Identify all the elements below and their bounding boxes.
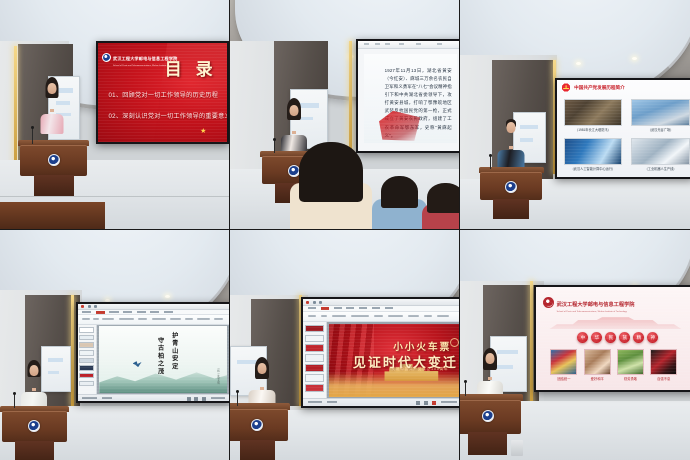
podium bbox=[0, 406, 69, 460]
view-sorter-icon[interactable] bbox=[194, 397, 198, 401]
slide-red-toc: 武汉工程大学邮电与信息工程学院 School of Posts and Tele… bbox=[98, 43, 227, 142]
slide-thumbnail[interactable] bbox=[305, 325, 324, 333]
save-icon[interactable] bbox=[313, 301, 316, 304]
zoom-slider[interactable] bbox=[211, 397, 225, 399]
photo-caption: （武汉光谷广场） bbox=[631, 127, 689, 132]
panel-top-right[interactable]: 中国共产党发展历程简介 （1981年长江大堤防汛） （武汉光谷广场） （武汉人工… bbox=[460, 0, 690, 229]
podium-front bbox=[230, 409, 288, 441]
face bbox=[47, 83, 56, 94]
slide-civic-values: 武汉工程大学邮电与信息工程学院 School of Posts and Tele… bbox=[536, 287, 690, 389]
bird-icon bbox=[133, 361, 142, 367]
photo-thumbnail bbox=[617, 349, 644, 376]
slide-thumbnail[interactable] bbox=[305, 344, 324, 352]
ribbon-tab[interactable] bbox=[346, 307, 354, 309]
slide-thumbnail[interactable] bbox=[305, 354, 324, 362]
value-photo-cell: 团结统一 bbox=[550, 349, 577, 376]
school-emblem-icon bbox=[482, 410, 494, 422]
podium-base bbox=[493, 199, 529, 218]
photo-thumbnail bbox=[650, 349, 677, 376]
neck bbox=[509, 146, 513, 149]
toolbar-tick bbox=[375, 43, 380, 45]
ribbon-tab[interactable] bbox=[123, 311, 132, 313]
slide-title-line-1: 小小火车票 bbox=[393, 339, 451, 353]
neck bbox=[260, 387, 264, 390]
value-chip-row: 中 华 民 族 精 神 bbox=[577, 332, 658, 343]
ribbon-control[interactable] bbox=[408, 315, 419, 317]
ribbon-control[interactable] bbox=[119, 318, 134, 320]
audience-head bbox=[427, 183, 459, 213]
grid-cell: （1981年长江大堤防汛） bbox=[564, 99, 622, 134]
panel-top-left[interactable]: 武汉工程大学邮电与信息工程学院 School of Posts and Tele… bbox=[0, 0, 229, 229]
led-screen[interactable]: 小小火车票 见证时代大变迁 庆祝中国共产党成立100周年 bbox=[301, 297, 459, 408]
neck bbox=[488, 377, 492, 380]
ribbon-control[interactable] bbox=[82, 318, 90, 320]
ribbon-control[interactable] bbox=[388, 315, 402, 317]
ribbon-tab[interactable] bbox=[385, 307, 393, 309]
grid-cell: （武汉光谷广场） bbox=[631, 99, 689, 134]
ppt-slide-thumbnails[interactable] bbox=[78, 325, 98, 394]
photo-thumbnail bbox=[564, 138, 622, 165]
slide-thumbnail[interactable] bbox=[79, 358, 94, 364]
undo-icon[interactable] bbox=[319, 301, 322, 304]
ribbon-control[interactable] bbox=[93, 318, 99, 320]
podium-front bbox=[2, 411, 67, 442]
save-icon[interactable] bbox=[88, 305, 91, 308]
slide-document: 1927年11月13日，湖北省黄安（今红安）、麻城三万余名农民自卫军和义勇军在"… bbox=[358, 41, 459, 152]
ribbon-control[interactable] bbox=[170, 318, 181, 320]
ribbon-tab[interactable] bbox=[82, 311, 91, 313]
view-slideshow-icon[interactable] bbox=[432, 401, 436, 405]
neck bbox=[292, 131, 296, 134]
slide-thumbnail[interactable] bbox=[305, 384, 324, 392]
party-emblem-icon bbox=[561, 83, 571, 92]
podium-base bbox=[240, 440, 276, 460]
photo-thumbnail bbox=[584, 349, 611, 376]
face bbox=[258, 363, 267, 374]
slide-body: 1927年11月13日，湖北省黄安（今红安）、麻城三万余名农民自卫军和义勇军在"… bbox=[364, 54, 457, 142]
slide-thumbnail[interactable] bbox=[79, 342, 94, 348]
ribbon-control[interactable] bbox=[374, 315, 384, 317]
photo-thumbnail bbox=[631, 99, 689, 126]
ribbon-control[interactable] bbox=[197, 318, 209, 320]
ppt-ribbon[interactable] bbox=[303, 312, 459, 323]
grid-cell: （工业机器人生产线） bbox=[631, 138, 689, 173]
slide-toc-item-1: 01、回顾党对一切工作领导的历史历程 bbox=[108, 90, 218, 102]
toolbar-tick bbox=[416, 43, 421, 45]
ribbon-control[interactable] bbox=[308, 315, 316, 317]
toolbar-tick bbox=[437, 43, 442, 45]
led-screen[interactable]: 中国共产党发展历程简介 （1981年长江大堤防汛） （武汉光谷广场） （武汉人工… bbox=[555, 78, 690, 179]
wall-light-strip bbox=[14, 46, 17, 170]
led-screen[interactable]: 武汉工程大学邮电与信息工程学院 School of Posts and Tele… bbox=[96, 41, 229, 144]
ribbon-tab[interactable] bbox=[137, 311, 146, 313]
value-chip: 神 bbox=[647, 332, 658, 343]
slide-title: 中国共产党发展历程简介 bbox=[574, 85, 625, 91]
face bbox=[486, 353, 495, 364]
slide-toc-item-2: 02、深刻认识党对一切工作领导的重要意义 bbox=[108, 111, 229, 123]
school-emblem-icon bbox=[505, 181, 517, 193]
slide-thumbnail[interactable] bbox=[305, 335, 324, 343]
slide-thumbnail[interactable] bbox=[79, 350, 94, 356]
slide-photo-grid: 中国共产党发展历程简介 （1981年长江大堤防汛） （武汉光谷广场） （武汉人工… bbox=[557, 80, 690, 177]
slide-org-name-cn: 武汉工程大学邮电与信息工程学院 bbox=[557, 302, 635, 308]
powerpoint-window[interactable]: 护青山安定 守古柏之茂 一枝一叶总关情 bbox=[78, 304, 229, 402]
microphone-icon bbox=[14, 394, 15, 408]
downlight-icon bbox=[165, 295, 170, 298]
room-scene: 中国共产党发展历程简介 （1981年长江大堤防汛） （武汉光谷广场） （武汉人工… bbox=[460, 0, 690, 229]
slide-thumbnail[interactable] bbox=[79, 365, 94, 371]
ribbon-control[interactable] bbox=[437, 315, 450, 317]
view-normal-icon[interactable] bbox=[187, 397, 191, 401]
school-emblem-icon bbox=[28, 420, 40, 432]
photo-caption: （1981年长江大堤防汛） bbox=[564, 127, 622, 132]
ribbon-tab[interactable] bbox=[372, 307, 380, 309]
ppt-ribbon[interactable] bbox=[78, 315, 229, 325]
slide-red-title: 小小火车票 见证时代大变迁 庆祝中国共产党成立100周年 bbox=[329, 324, 459, 397]
school-seal-icon bbox=[543, 297, 554, 308]
status-text bbox=[308, 401, 322, 403]
ribbon-control[interactable] bbox=[152, 318, 166, 320]
torso bbox=[40, 114, 63, 134]
ppt-title-bar[interactable] bbox=[303, 299, 459, 306]
slide-seal-note: 一枝一叶总关情 bbox=[216, 367, 220, 384]
school-seal-icon bbox=[102, 53, 111, 62]
wall-light-strip bbox=[71, 295, 74, 406]
app-icon bbox=[306, 301, 309, 304]
toolbar-tick bbox=[399, 43, 404, 45]
ribbon-control[interactable] bbox=[102, 318, 114, 320]
ribbon-control[interactable] bbox=[321, 315, 327, 317]
ribbon-tab-active[interactable] bbox=[321, 307, 329, 310]
face bbox=[507, 122, 516, 133]
value-chip: 民 bbox=[605, 332, 616, 343]
ppt-slide-canvas[interactable]: 小小火车票 见证时代大变迁 庆祝中国共产党成立100周年 bbox=[327, 322, 459, 398]
audience-head bbox=[381, 176, 418, 208]
ppt-slide-thumbnails[interactable] bbox=[303, 322, 327, 398]
podium-front bbox=[480, 172, 541, 200]
wall-light-strip bbox=[530, 281, 533, 406]
school-emblem-icon bbox=[251, 419, 263, 431]
ppt-status-bar[interactable] bbox=[78, 394, 229, 401]
microphone-icon bbox=[274, 140, 275, 154]
ribbon-control[interactable] bbox=[138, 318, 147, 320]
panel-bottom-right[interactable]: 武汉工程大学邮电与信息工程学院 School of Posts and Tele… bbox=[460, 230, 690, 460]
slide-org-name-en: School of Posts and Telecommunications, … bbox=[557, 311, 635, 313]
panel-bottom-middle[interactable]: 小小火车票 见证时代大变迁 庆祝中国共产党成立100周年 bbox=[230, 230, 459, 460]
ribbon-tab-active[interactable] bbox=[96, 311, 105, 314]
neck bbox=[50, 109, 54, 112]
value-chip: 中 bbox=[577, 332, 588, 343]
slide-title: 目 录 bbox=[165, 55, 217, 80]
ribbon-tab[interactable] bbox=[359, 307, 367, 309]
photo-thumbnail bbox=[631, 138, 689, 165]
photo-caption: 团结统一 bbox=[550, 376, 577, 381]
calligraphy-line-2: 守古柏之茂 bbox=[156, 337, 165, 376]
star-icon: ★ bbox=[200, 127, 206, 135]
slide-subtitle: 庆祝中国共产党成立100周年 bbox=[392, 366, 449, 371]
slide-toolbar-strip bbox=[358, 41, 459, 49]
slide-thumbnail[interactable] bbox=[305, 374, 324, 382]
grid-cell: （武汉人工智能计算中心运行） bbox=[564, 138, 622, 173]
ribbon-tab[interactable] bbox=[150, 311, 159, 313]
microphone-icon bbox=[32, 128, 33, 144]
microphone-icon bbox=[237, 392, 238, 406]
photo-caption: 勤劳勇敢 bbox=[617, 376, 644, 381]
photo-caption: 爱好和平 bbox=[584, 376, 611, 381]
ribbon-control[interactable] bbox=[351, 315, 369, 317]
ribbon-tab[interactable] bbox=[164, 311, 173, 313]
view-sorter-icon[interactable] bbox=[424, 401, 428, 405]
podium-base bbox=[34, 175, 74, 196]
value-photo-cell: 爱好和平 bbox=[584, 349, 611, 376]
ppt-slide-canvas[interactable]: 护青山安定 守古柏之茂 一枝一叶总关情 bbox=[97, 325, 229, 394]
podium-base bbox=[468, 432, 507, 455]
presenter bbox=[32, 78, 71, 147]
ribbon-control[interactable] bbox=[185, 318, 193, 320]
room-scene: 武汉工程大学邮电与信息工程学院 School of Posts and Tele… bbox=[0, 0, 229, 229]
zoom-slider[interactable] bbox=[441, 401, 457, 403]
ribbon-control[interactable] bbox=[214, 318, 223, 320]
slide-thumbnail[interactable] bbox=[79, 381, 94, 387]
panel-top-middle[interactable]: 1927年11月13日，湖北省黄安（今红安）、麻城三万余名农民自卫军和义勇军在"… bbox=[230, 0, 459, 229]
calligraphy-line-1: 护青山安定 bbox=[170, 332, 179, 371]
ribbon-tab[interactable] bbox=[308, 307, 316, 309]
room-scene: 护青山安定 守古柏之茂 一枝一叶总关情 bbox=[0, 230, 229, 460]
slide-ink-wash: 护青山安定 守古柏之茂 一枝一叶总关情 bbox=[99, 326, 227, 393]
podium bbox=[230, 403, 290, 460]
status-text bbox=[327, 401, 337, 403]
ribbon-control[interactable] bbox=[424, 315, 432, 317]
great-wall-decor bbox=[549, 316, 682, 329]
photo-caption: （武汉人工智能计算中心运行） bbox=[564, 166, 622, 171]
slide-thumbnail[interactable] bbox=[79, 335, 94, 341]
led-screen[interactable]: 武汉工程大学邮电与信息工程学院 School of Posts and Tele… bbox=[534, 285, 690, 391]
photo-caption: 自强不息 bbox=[650, 376, 677, 381]
toolbar-tick bbox=[385, 43, 390, 45]
value-chip: 精 bbox=[633, 332, 644, 343]
photo-collage: 武汉工程大学邮电与信息工程学院 School of Posts and Tele… bbox=[0, 0, 690, 460]
photo-thumbnail bbox=[564, 99, 622, 126]
ribbon-control[interactable] bbox=[332, 315, 346, 317]
microphone-icon bbox=[490, 156, 491, 170]
face bbox=[290, 105, 299, 116]
floor-seam bbox=[0, 196, 229, 197]
powerpoint-window[interactable]: 小小火车票 见证时代大变迁 庆祝中国共产党成立100周年 bbox=[303, 299, 459, 406]
value-photo-cell: 勤劳勇敢 bbox=[617, 349, 644, 376]
value-chip: 族 bbox=[619, 332, 630, 343]
view-slideshow-icon[interactable] bbox=[202, 397, 206, 401]
photo-caption: （工业机器人生产线） bbox=[631, 166, 689, 171]
status-text bbox=[102, 397, 113, 399]
school-emblem-icon bbox=[48, 154, 60, 166]
slide-thumbnail[interactable] bbox=[79, 373, 94, 379]
led-screen[interactable]: 护青山安定 守古柏之茂 一枝一叶总关情 bbox=[76, 302, 229, 404]
app-icon bbox=[81, 305, 84, 308]
ribbon-tab[interactable] bbox=[109, 311, 118, 313]
seal-badge-icon bbox=[450, 338, 459, 347]
undo-icon[interactable] bbox=[94, 305, 97, 308]
face bbox=[30, 365, 39, 376]
value-photo-cell: 自强不息 bbox=[650, 349, 677, 376]
room-scene: 小小火车票 见证时代大变迁 庆祝中国共产党成立100周年 bbox=[230, 230, 459, 460]
value-chip: 华 bbox=[591, 332, 602, 343]
status-text bbox=[82, 397, 97, 399]
slide-thumbnail[interactable] bbox=[305, 364, 324, 372]
podium bbox=[479, 167, 544, 217]
microphone-icon bbox=[465, 382, 466, 396]
ribbon-tab[interactable] bbox=[334, 307, 342, 309]
view-normal-icon[interactable] bbox=[416, 401, 420, 405]
podium bbox=[18, 140, 89, 195]
room-scene: 1927年11月13日，湖北省黄安（今红安）、麻城三万余名农民自卫军和义勇军在"… bbox=[230, 0, 459, 229]
ppt-status-bar[interactable] bbox=[303, 398, 459, 405]
downlight-icon bbox=[576, 62, 581, 65]
podium-base bbox=[15, 441, 53, 460]
led-screen[interactable]: 1927年11月13日，湖北省黄安（今红安）、麻城三万余名农民自卫军和义勇军在"… bbox=[356, 39, 459, 154]
toolbar-tick bbox=[364, 43, 369, 45]
photo-thumbnail bbox=[550, 349, 577, 376]
audience-head bbox=[299, 142, 363, 202]
slide-thumbnail[interactable] bbox=[79, 327, 94, 333]
room-scene: 武汉工程大学邮电与信息工程学院 School of Posts and Tele… bbox=[460, 230, 690, 460]
slide-header: 中国共产党发展历程简介 bbox=[561, 83, 625, 92]
front-desk bbox=[0, 202, 105, 229]
neck bbox=[32, 388, 36, 391]
podium-front bbox=[20, 145, 87, 176]
slide-org-logo: 武汉工程大学邮电与信息工程学院 School of Posts and Tele… bbox=[543, 293, 635, 313]
podium-front bbox=[460, 400, 521, 434]
panel-bottom-left[interactable]: 护青山安定 守古柏之茂 一枝一叶总关情 bbox=[0, 230, 229, 460]
trash-bin bbox=[511, 440, 523, 456]
